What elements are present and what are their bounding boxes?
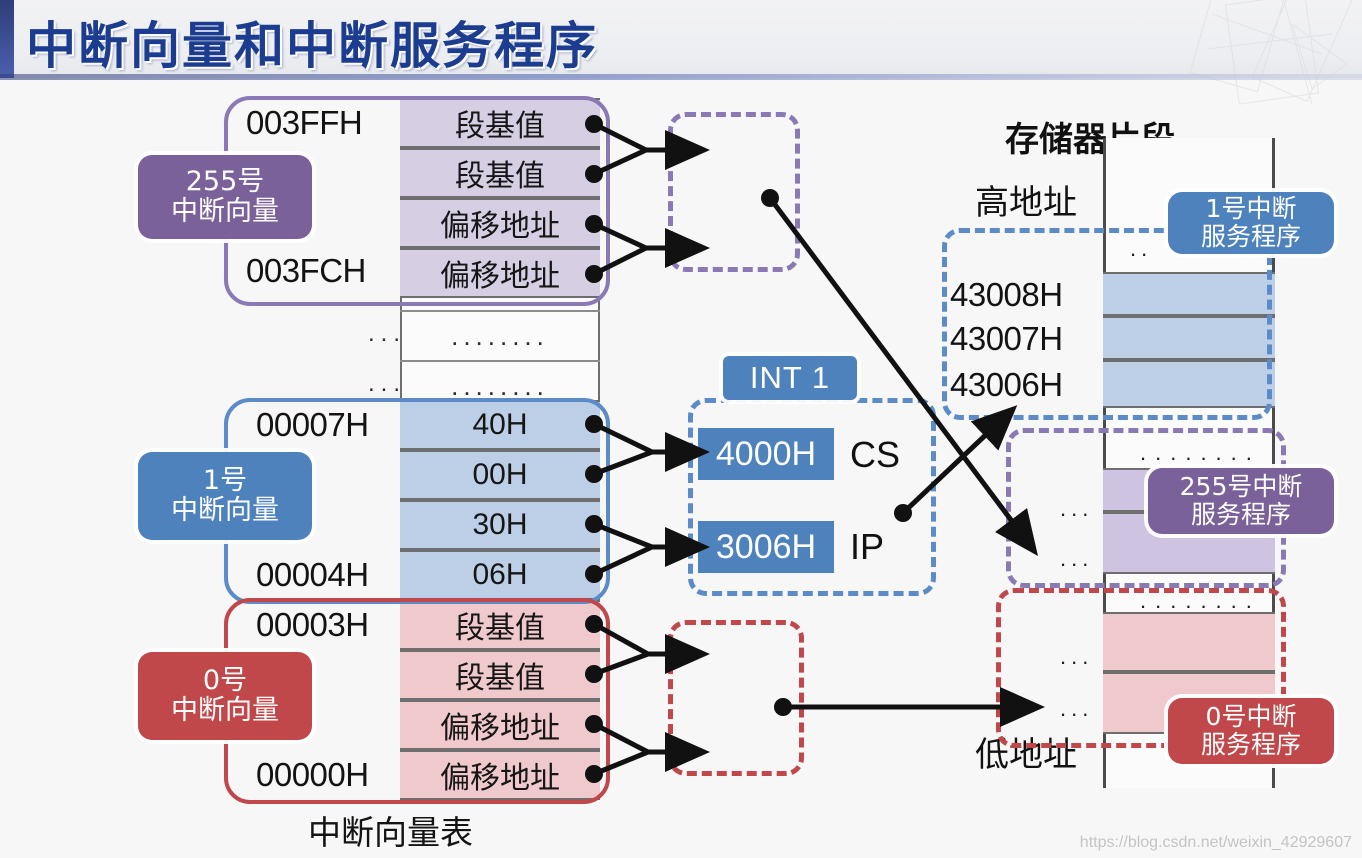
- ip-register-label: IP: [850, 526, 884, 568]
- service-routine-line1: 1号中断: [1206, 195, 1297, 223]
- vector-cell: 40H: [400, 400, 600, 450]
- page-title: 中断向量和中断服务程序: [26, 6, 598, 78]
- vector-label-line1: 1号: [203, 466, 247, 496]
- vector-label-line1: 255号: [186, 167, 265, 197]
- vector-label-line1: 0号: [203, 666, 247, 696]
- vector-address-ellipsis: ...: [368, 370, 406, 398]
- service-routine-label-1: 1号中断 服务程序: [1168, 192, 1334, 254]
- purple-dashed-box: [668, 112, 800, 272]
- vector-address-top: 00007H: [256, 406, 369, 444]
- service-routine-line1: 255号中断: [1180, 473, 1303, 501]
- vector-cell: 30H: [400, 500, 600, 550]
- vector-cell: 段基值: [400, 600, 600, 650]
- vector-cell: 偏移地址: [400, 248, 600, 298]
- vector-cell: 段基值: [400, 650, 600, 700]
- vector-label-line2: 中断向量: [171, 496, 279, 526]
- service-routine-line1: 0号中断: [1206, 703, 1297, 731]
- header-accent-bar: [0, 0, 14, 78]
- vector-cell: 段基值: [400, 98, 600, 148]
- vector-cell: 偏移地址: [400, 700, 600, 750]
- vector-label-0: 0号 中断向量: [138, 652, 312, 740]
- cs-register-label: CS: [850, 434, 900, 476]
- vector-cell: 00H: [400, 450, 600, 500]
- service-routine-line2: 服务程序: [1201, 223, 1301, 251]
- vector-address-bottom: 00000H: [256, 756, 369, 794]
- slide-root: 中断向量和中断服务程序 段基值 段基值 偏移地址 偏移地址 ........ .…: [0, 0, 1362, 858]
- vector-address-ellipsis: ...: [368, 320, 406, 348]
- vector-label-line2: 中断向量: [171, 696, 279, 726]
- service-routine-label-255: 255号中断 服务程序: [1148, 468, 1334, 534]
- memory-group-outline-1: [942, 228, 1272, 420]
- vector-cell: 偏移地址: [400, 750, 600, 800]
- vector-address-bottom: 003FCH: [246, 252, 366, 290]
- service-routine-label-0: 0号中断 服务程序: [1168, 698, 1334, 764]
- vector-label-255: 255号 中断向量: [138, 155, 312, 239]
- vector-label-1: 1号 中断向量: [138, 452, 312, 540]
- service-routine-line2: 服务程序: [1201, 731, 1301, 759]
- vector-table-caption: 中断向量表: [308, 806, 473, 854]
- service-routine-line2: 服务程序: [1191, 501, 1291, 529]
- vector-address-bottom: 00004H: [256, 556, 369, 594]
- vector-address-top: 003FFH: [246, 104, 362, 142]
- vector-cell: 06H: [400, 550, 600, 600]
- vector-cell: 偏移地址: [400, 198, 600, 248]
- vector-cell: 段基值: [400, 148, 600, 198]
- red-dashed-box: [668, 620, 804, 776]
- vector-ellipsis-row: ........: [400, 310, 600, 360]
- blueprint-decoration-icon: [1172, 0, 1362, 114]
- high-address-label: 高地址: [975, 175, 1077, 224]
- vector-label-line2: 中断向量: [171, 197, 279, 227]
- ip-value-box: 3006H: [698, 521, 834, 573]
- watermark: https://blog.csdn.net/weixin_42929607: [1080, 834, 1352, 852]
- cs-value-box: 4000H: [698, 428, 834, 480]
- vector-address-top: 00003H: [256, 606, 369, 644]
- int-instruction-box: INT 1: [723, 356, 857, 400]
